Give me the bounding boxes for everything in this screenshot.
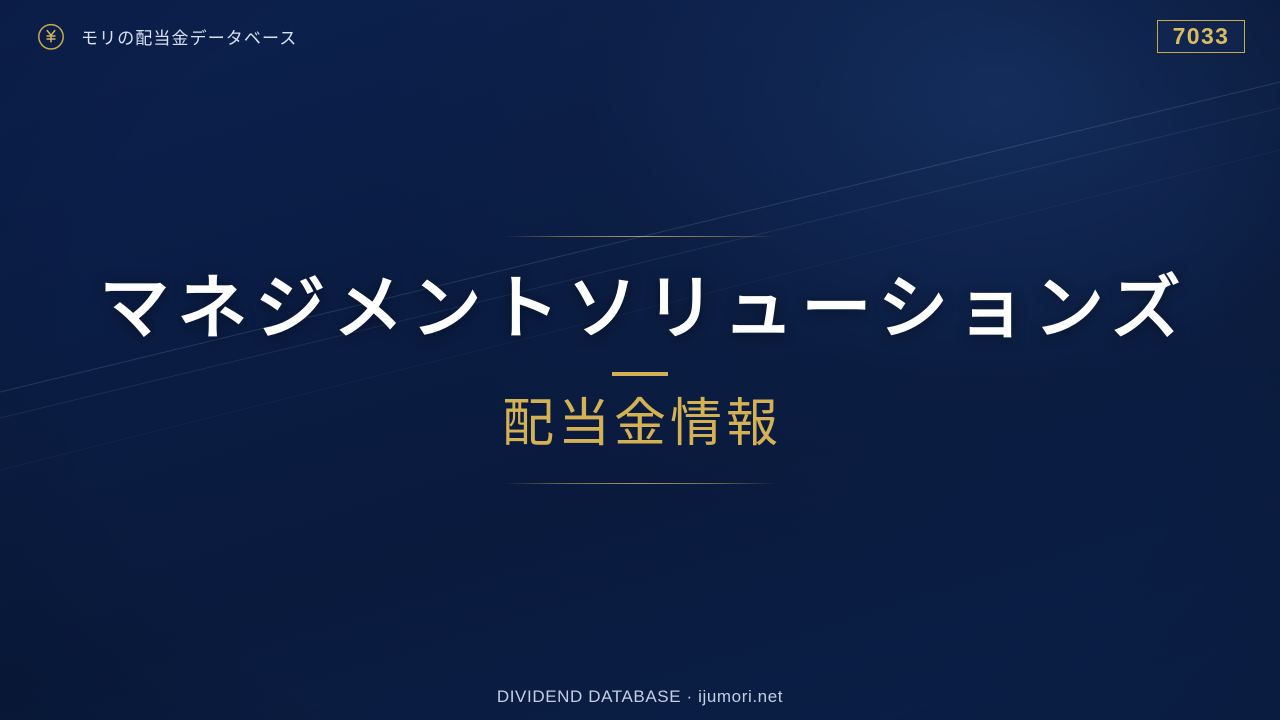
page-subtitle: 配当金情報	[498, 396, 782, 453]
slide-center-block: マネジメントソリューションズ 配当金情報	[0, 0, 1280, 720]
gold-dash-divider	[612, 372, 668, 376]
footer-attribution: DIVIDEND DATABASE · ijumori.net	[0, 687, 1280, 707]
bottom-divider-rule	[504, 483, 776, 484]
top-divider-rule	[504, 236, 776, 237]
page-title: マネジメントソリューションズ	[91, 271, 1188, 345]
title-slide: モリの配当金データベース 7033 マネジメントソリューションズ 配当金情報 D…	[0, 0, 1280, 720]
